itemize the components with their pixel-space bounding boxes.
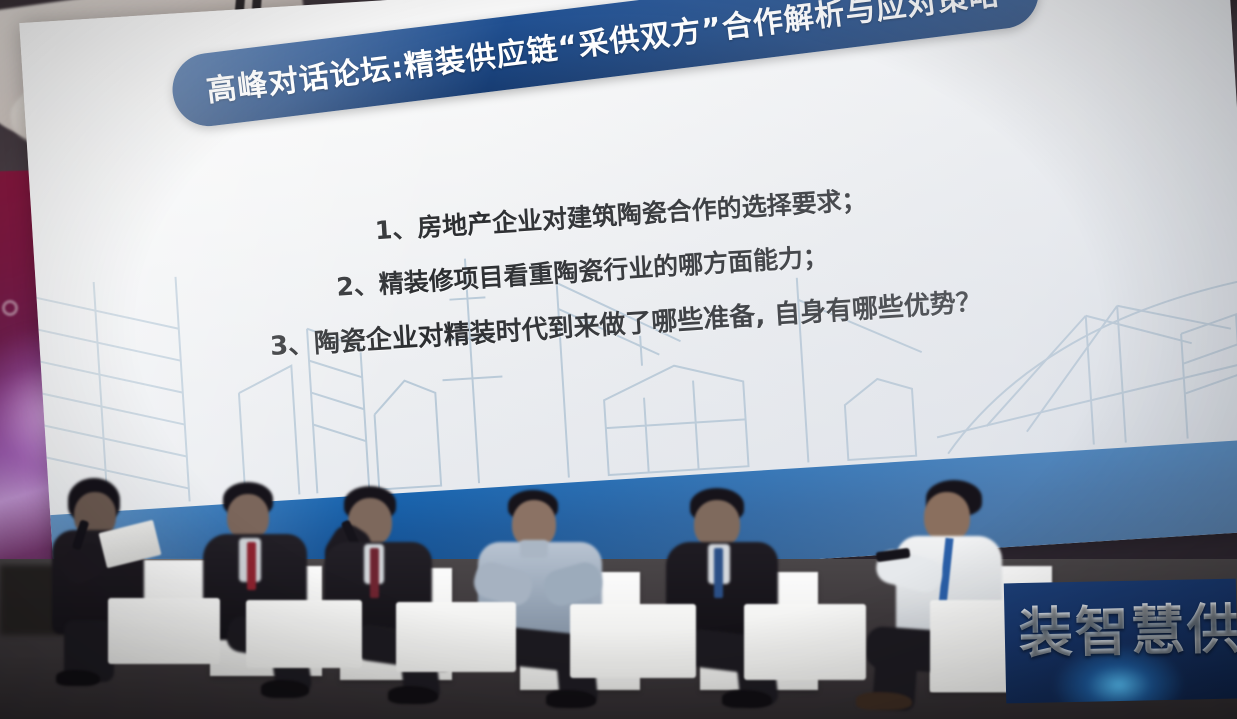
panelist-1-tie xyxy=(247,542,256,590)
panelist-5-head xyxy=(924,492,970,542)
panelist-4-shoe xyxy=(722,690,772,708)
panelist-4-head xyxy=(694,500,740,548)
slide-title-pill: 高峰对话论坛:精装供应链“采供双方”合作解析与应对策略 xyxy=(168,0,1043,130)
panelist-2-tie xyxy=(370,548,379,598)
panelist-4-tie xyxy=(714,548,723,598)
chair-5-front xyxy=(744,604,866,680)
panelist-3-shoe xyxy=(546,690,596,708)
signage-text: 装智慧供 xyxy=(1018,584,1237,668)
panelist-5-shoe xyxy=(856,692,912,710)
chair-1-front xyxy=(108,598,220,664)
bottom-right-signage: 装智慧供 xyxy=(1004,579,1237,704)
chair-3-front xyxy=(396,602,516,672)
slide-title-text: 高峰对话论坛:精装供应链“采供双方”合作解析与应对策略 xyxy=(205,0,1002,109)
chair-4-front xyxy=(570,604,696,678)
chair-2-front xyxy=(246,600,362,668)
panel-logo-mark-icon xyxy=(2,300,18,316)
panelist-1-shoe xyxy=(261,680,309,698)
stage-scene: 高峰对话论坛:精装供应链“采供双方”合作解析与应对策略 1、房地产企业对建筑陶瓷… xyxy=(0,0,1237,719)
panelist-3-collar xyxy=(520,540,548,558)
moderator-shoe xyxy=(56,670,100,686)
panelist-2-shoe xyxy=(388,686,438,704)
